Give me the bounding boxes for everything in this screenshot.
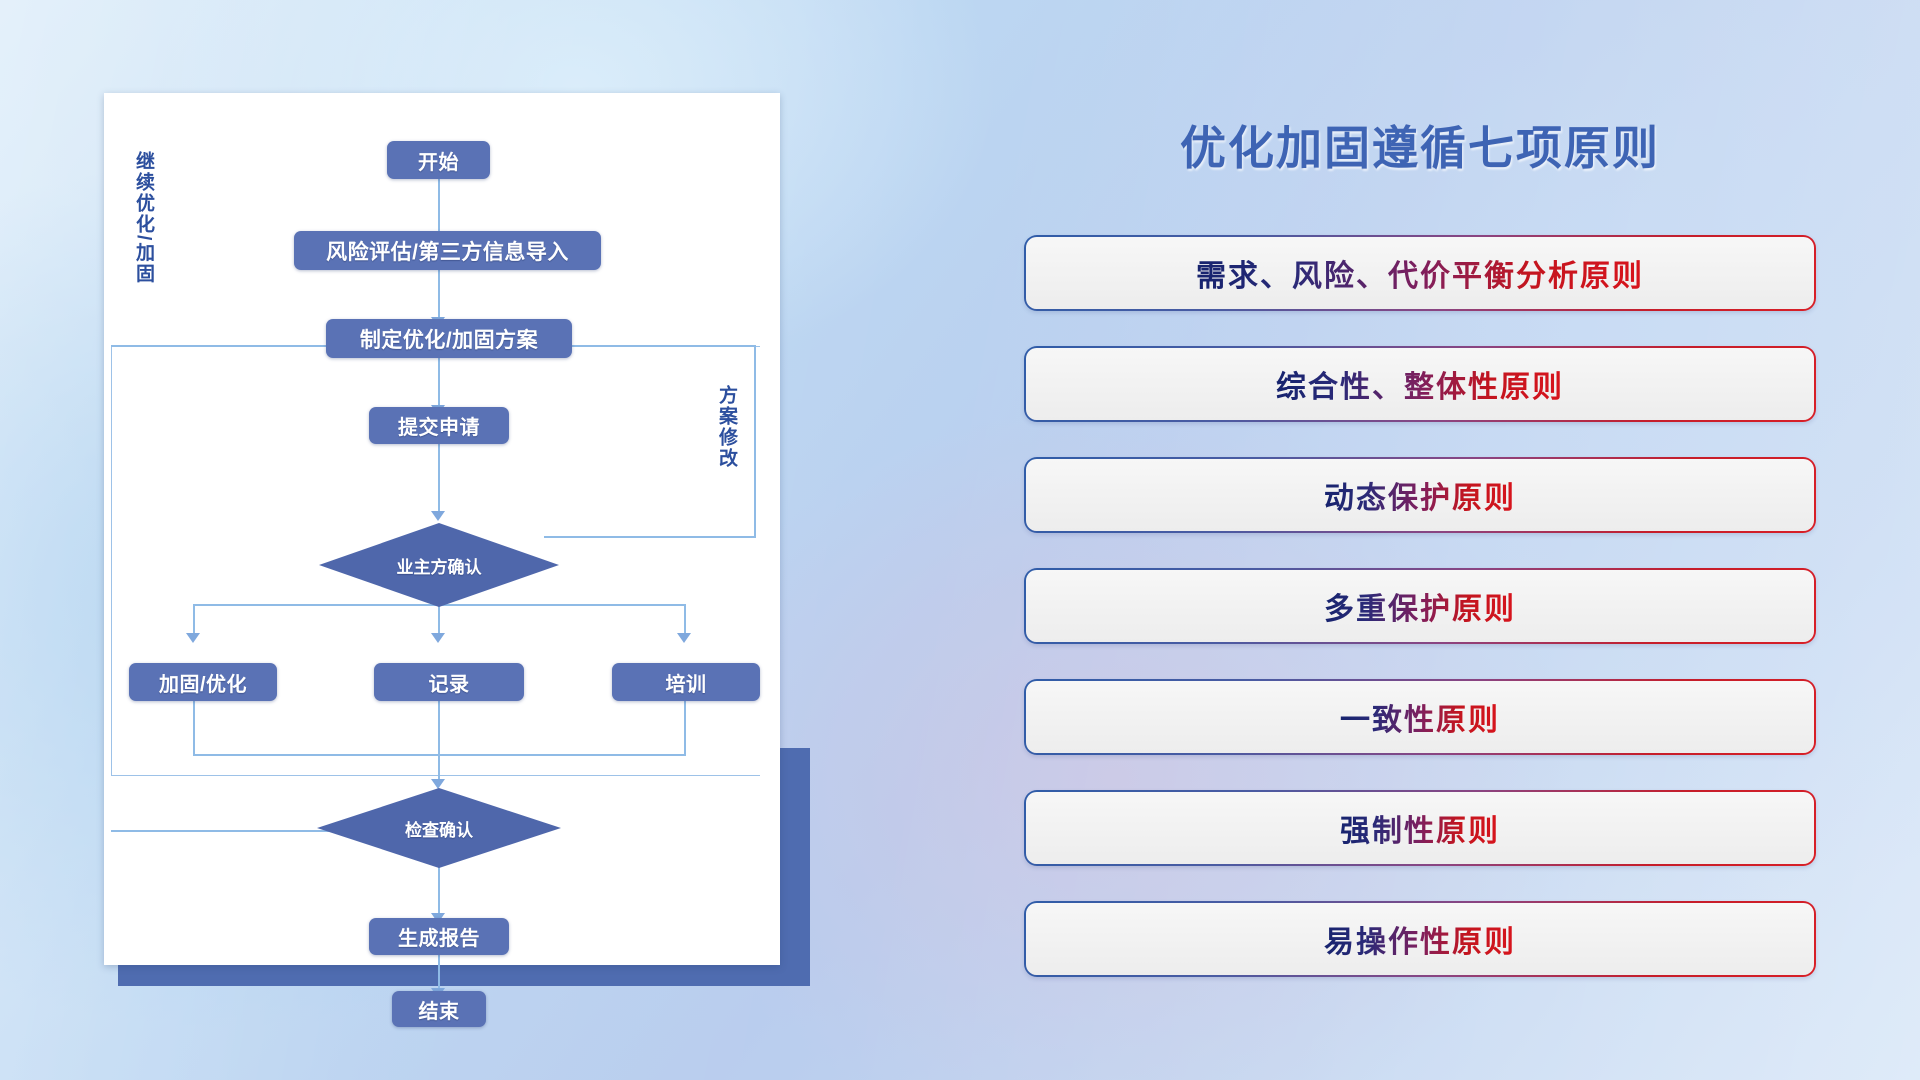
principle-inner: 一致性原则 bbox=[1026, 681, 1813, 752]
principle-item[interactable]: 一致性原则 bbox=[1024, 679, 1816, 755]
arrow-bus-to-reinforce bbox=[186, 633, 200, 643]
flow-node-plan[interactable]: 制定优化/加固方案 bbox=[326, 319, 572, 358]
connector-right-loop-top bbox=[546, 345, 756, 347]
connector-bus-to-record bbox=[438, 604, 440, 636]
flow-node-start-label: 开始 bbox=[418, 146, 459, 175]
flow-node-start[interactable]: 开始 bbox=[387, 141, 490, 179]
edge-label-plan-revision: 方案修改 bbox=[716, 385, 736, 469]
flow-node-submit-application[interactable]: 提交申请 bbox=[369, 407, 509, 444]
connector-plan-to-submit bbox=[438, 356, 440, 408]
principle-list: 需求、风险、代价平衡分析原则 综合性、整体性原则 动态保护原则 多重保护原则 一… bbox=[1024, 235, 1816, 977]
connector-risk-to-plan bbox=[438, 268, 440, 321]
connector-bus-to-reinforce bbox=[193, 604, 195, 636]
flow-node-risk-assessment[interactable]: 风险评估/第三方信息导入 bbox=[294, 231, 601, 270]
flow-node-check-confirm[interactable]: 检查确认 bbox=[317, 788, 561, 868]
flow-node-training[interactable]: 培训 bbox=[612, 663, 760, 701]
connector-owner-to-right-loop bbox=[544, 536, 756, 538]
principle-item[interactable]: 易操作性原则 bbox=[1024, 901, 1816, 977]
edge-label-continue-optimize: 继续优化/加固 bbox=[133, 151, 153, 284]
connector-bus-to-train bbox=[684, 604, 686, 636]
flow-node-record-label: 记录 bbox=[429, 668, 470, 697]
connector-record-to-check bbox=[438, 701, 440, 783]
principle-label: 易操作性原则 bbox=[1324, 917, 1516, 961]
connector-train-to-merge bbox=[684, 701, 686, 756]
principle-inner: 强制性原则 bbox=[1026, 792, 1813, 863]
principle-label: 综合性、整体性原则 bbox=[1276, 362, 1564, 406]
connector-submit-to-owner bbox=[438, 442, 440, 514]
flow-node-generate-report-label: 生成报告 bbox=[398, 922, 480, 951]
principle-inner: 需求、风险、代价平衡分析原则 bbox=[1026, 237, 1813, 308]
principle-item[interactable]: 动态保护原则 bbox=[1024, 457, 1816, 533]
principle-label: 强制性原则 bbox=[1340, 806, 1500, 850]
flow-node-owner-confirm[interactable]: 业主方确认 bbox=[319, 523, 559, 607]
principle-inner: 多重保护原则 bbox=[1026, 570, 1813, 641]
connector-check-to-report bbox=[438, 865, 440, 917]
principle-item[interactable]: 综合性、整体性原则 bbox=[1024, 346, 1816, 422]
arrow-submit-to-owner bbox=[431, 511, 445, 521]
connector-reinforce-to-merge bbox=[193, 701, 195, 756]
flow-node-end-label: 结束 bbox=[419, 995, 460, 1024]
flow-node-reinforce[interactable]: 加固/优化 bbox=[129, 663, 277, 701]
principle-inner: 动态保护原则 bbox=[1026, 459, 1813, 530]
flow-node-generate-report[interactable]: 生成报告 bbox=[369, 918, 509, 955]
arrow-bus-to-record bbox=[431, 633, 445, 643]
principle-inner: 易操作性原则 bbox=[1026, 903, 1813, 974]
flow-node-plan-label: 制定优化/加固方案 bbox=[360, 324, 538, 354]
principle-item[interactable]: 强制性原则 bbox=[1024, 790, 1816, 866]
flow-node-submit-application-label: 提交申请 bbox=[398, 411, 480, 440]
principle-item[interactable]: 多重保护原则 bbox=[1024, 568, 1816, 644]
flow-node-owner-confirm-label: 业主方确认 bbox=[397, 553, 482, 578]
principle-label: 一致性原则 bbox=[1340, 695, 1500, 739]
principle-label: 动态保护原则 bbox=[1324, 473, 1516, 517]
connector-report-to-end bbox=[438, 954, 440, 992]
flow-node-check-confirm-label: 检查确认 bbox=[405, 816, 473, 841]
flow-node-end[interactable]: 结束 bbox=[392, 991, 486, 1027]
principle-label: 多重保护原则 bbox=[1324, 584, 1516, 628]
flow-node-record[interactable]: 记录 bbox=[374, 663, 524, 701]
principle-label: 需求、风险、代价平衡分析原则 bbox=[1196, 251, 1644, 295]
flow-node-training-label: 培训 bbox=[666, 668, 707, 697]
flow-node-reinforce-label: 加固/优化 bbox=[159, 668, 247, 697]
connector-start-to-risk bbox=[438, 178, 440, 236]
arrow-bus-to-train bbox=[677, 633, 691, 643]
panel-title: 优化加固遵循七项原则 bbox=[1000, 112, 1840, 178]
flowchart-card: 继续优化/加固 方案修改 开始 风险评估/第三方信息导入 bbox=[104, 93, 780, 965]
connector-right-loop-vertical bbox=[754, 345, 756, 537]
flow-node-risk-assessment-label: 风险评估/第三方信息导入 bbox=[326, 236, 569, 266]
principle-inner: 综合性、整体性原则 bbox=[1026, 348, 1813, 419]
principles-panel: 优化加固遵循七项原则 需求、风险、代价平衡分析原则 综合性、整体性原则 动态保护… bbox=[1000, 80, 1840, 1010]
principle-item[interactable]: 需求、风险、代价平衡分析原则 bbox=[1024, 235, 1816, 311]
